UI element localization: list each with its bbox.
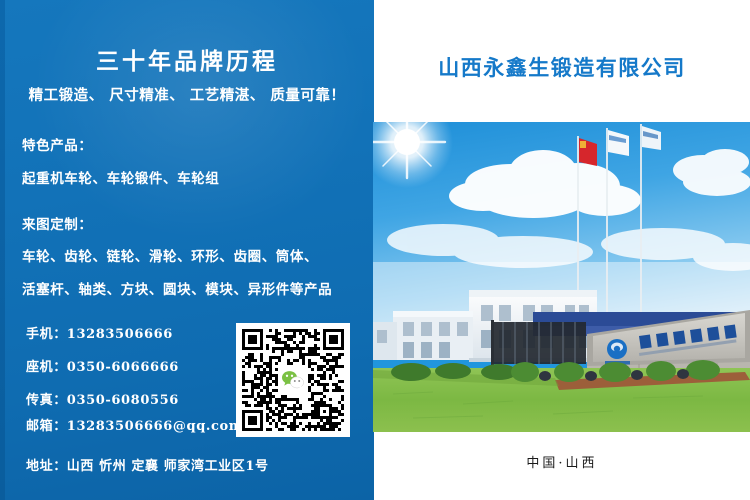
- panel-tagline: 精工锻造、 尺寸精准、 工艺精湛、 质量可靠！: [0, 84, 374, 105]
- contact-telephone: 座机：0350-6066666: [26, 356, 179, 375]
- wechat-glyph: [281, 370, 305, 390]
- company-name-heading: 山西永鑫生锻造有限公司: [374, 52, 750, 82]
- wechat-logo-icon: [280, 367, 306, 393]
- custom-products-line-2: 活塞杆、轴类、方块、圆块、模块、异形件等产品: [22, 278, 332, 298]
- left-info-panel: 三十年品牌历程 精工锻造、 尺寸精准、 工艺精湛、 质量可靠！ 特色产品： 起重…: [0, 0, 374, 500]
- contact-email: 邮箱：13283506666@qq.com: [26, 415, 243, 434]
- contact-mobile: 手机：13283506666: [26, 323, 173, 342]
- featured-products-items: 起重机车轮、车轮锻件、车轮组: [22, 167, 219, 187]
- wechat-qr-code[interactable]: [236, 323, 350, 437]
- contact-fax: 传真：0350-6080556: [26, 389, 179, 408]
- contact-address: 地址：山西 忻州 定襄 师家湾工业区1号: [26, 455, 269, 474]
- panel-title: 三十年品牌历程: [0, 42, 374, 76]
- panel-glow-overlay: [30, 0, 370, 240]
- factory-photo-graphic: [373, 122, 750, 432]
- footer-location-caption: 中国·山西: [374, 452, 750, 471]
- custom-order-label: 来图定制：: [22, 213, 93, 233]
- custom-products-line-1: 车轮、齿轮、链轮、滑轮、环形、齿圈、筒体、: [22, 245, 318, 265]
- factory-entrance-photo: [373, 122, 750, 432]
- company-profile-card: 三十年品牌历程 精工锻造、 尺寸精准、 工艺精湛、 质量可靠！ 特色产品： 起重…: [0, 0, 750, 500]
- featured-products-label: 特色产品：: [22, 134, 93, 154]
